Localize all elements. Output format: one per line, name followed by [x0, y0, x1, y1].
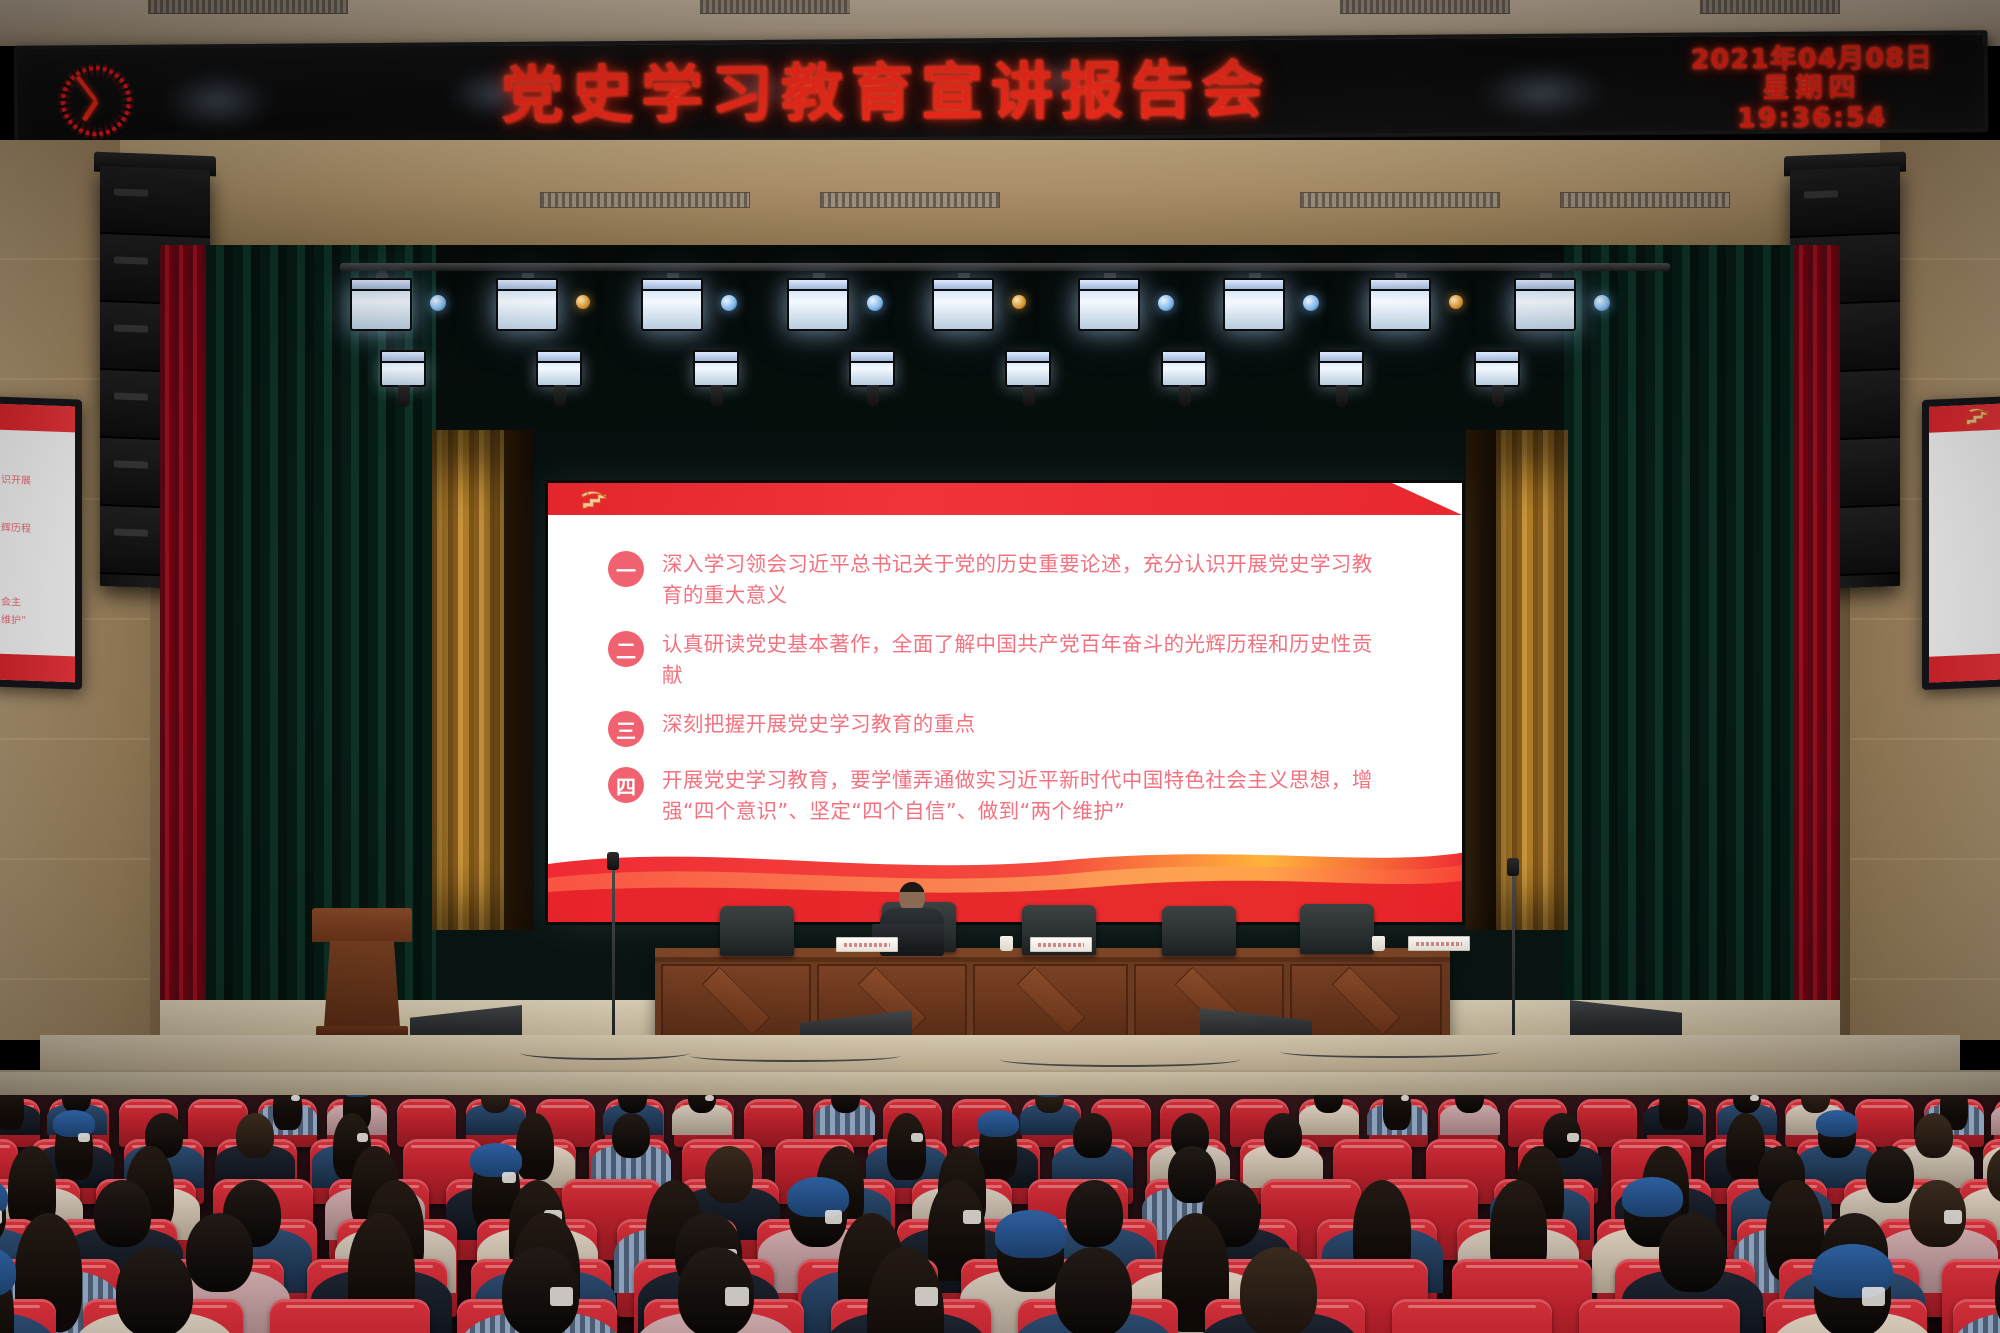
ceiling-vent-icon	[820, 192, 1000, 208]
face-mask-icon	[78, 1133, 90, 1142]
cable	[1280, 1046, 1500, 1058]
table-panel	[973, 964, 1128, 1038]
lighting-truss	[340, 263, 1670, 271]
stage-light-fixture	[1161, 357, 1207, 387]
red-curtain-left	[160, 245, 206, 1035]
stage-light-fixture	[496, 285, 558, 331]
speaking-podium	[312, 908, 412, 1038]
bullet-text: 深入学习领会习近平总书记关于党的历史重要论述，充分认识开展党史学习教育的重大意义	[662, 549, 1382, 611]
par-can-icon	[1594, 295, 1610, 311]
stage-light-fixture	[1223, 285, 1285, 331]
microphone-stand	[612, 862, 615, 1062]
audience-member-head	[1055, 1247, 1132, 1333]
ceiling-vent-icon	[148, 0, 348, 14]
stage-light-fixture	[641, 285, 703, 331]
ceiling-vent-icon	[540, 192, 750, 208]
led-banner-display: 党史学习教育宣讲报告会 2021年04月08日 星期四 19:36:54	[14, 30, 1989, 148]
audience-member-head	[1866, 1146, 1914, 1202]
right-side-led-panel	[1922, 396, 2000, 690]
chair	[1300, 904, 1374, 954]
audience-member-head	[705, 1146, 753, 1202]
audience-member-head	[1264, 1113, 1302, 1158]
light-yoke	[711, 385, 723, 407]
auditorium-scene: 党史学习教育宣讲报告会 2021年04月08日 星期四 19:36:54	[0, 0, 2000, 1333]
face-mask-icon	[1944, 1210, 1962, 1224]
ccp-hammer-sickle-emblem-icon	[574, 485, 616, 515]
slide-header-band	[548, 483, 1462, 515]
water-cup	[1372, 936, 1385, 951]
gold-curtain-right	[1496, 430, 1568, 930]
face-mask-icon	[1567, 1133, 1579, 1142]
slide-bullet-item: 二 认真研读党史基本著作，全面了解中国共产党百年奋斗的光辉历程和历史性贡献	[608, 629, 1432, 691]
bullet-number-badge: 四	[608, 767, 644, 803]
audience-seat	[270, 1299, 430, 1333]
light-yoke	[867, 385, 879, 407]
face-mask-icon	[963, 1210, 981, 1224]
ceiling-vent-icon	[700, 0, 850, 14]
proscenium-header	[120, 140, 1880, 245]
audience-member-cap	[995, 1210, 1066, 1257]
ceiling-vent-icon	[1700, 0, 1840, 14]
audience-member-cap	[977, 1110, 1019, 1137]
light-yoke	[1336, 385, 1348, 407]
audience-seat	[1579, 1299, 1739, 1333]
audience-member-head	[1659, 1095, 1688, 1130]
water-cup	[1000, 936, 1013, 951]
par-can-icon	[430, 295, 446, 311]
stage-light-fixture	[1474, 357, 1520, 387]
stage-light-fixture	[787, 285, 849, 331]
audience-area	[0, 1095, 2000, 1333]
bullet-text: 开展党史学习教育，要学懂弄通做实习近平新时代中国特色社会主义思想，增强“四个意识…	[662, 765, 1382, 827]
banner-time: 19:36:54	[1662, 102, 1962, 134]
slide-bullet-item: 一 深入学习领会习近平总书记关于党的历史重要论述，充分认识开展党史学习教育的重大…	[608, 549, 1432, 611]
slide-surface: 一 深入学习领会习近平总书记关于党的历史重要论述，充分认识开展党史学习教育的重大…	[548, 483, 1462, 922]
side-panel-fragment: 辉历程	[1, 522, 71, 537]
stage-light-fixture	[1005, 357, 1051, 387]
stage-light-fixture	[350, 285, 412, 331]
microphone-icon	[1507, 858, 1519, 876]
face-mask-icon	[291, 1095, 300, 1101]
cable	[690, 1050, 900, 1062]
ceiling-vent-icon	[1340, 0, 1510, 14]
cable	[520, 1046, 690, 1060]
banner-date: 2021年04月08日	[1662, 43, 1962, 74]
stage-light-fixture	[693, 357, 739, 387]
par-can-icon	[576, 295, 590, 309]
bullet-number-badge: 三	[608, 711, 644, 747]
ccp-hammer-sickle-emblem-icon	[1959, 402, 1997, 432]
banner-weekday: 星期四	[1662, 72, 1962, 104]
face-mask-icon	[357, 1133, 369, 1142]
audience-member-head	[186, 1213, 253, 1292]
bullet-text: 认真研读党史基本著作，全面了解中国共产党百年奋斗的光辉历程和历史性贡献	[662, 629, 1382, 691]
table-panel	[661, 964, 811, 1038]
stage-light-fixture	[1078, 285, 1140, 331]
stage-light-fixture	[536, 357, 582, 387]
side-panel-fragment: 维护”	[1, 614, 71, 629]
side-panel-fragment: 识开展	[1, 474, 71, 489]
red-curtain-right	[1794, 245, 1840, 1035]
microphone-icon	[607, 852, 619, 870]
audience-member-head	[1659, 1213, 1726, 1292]
microphone-stand	[1512, 868, 1515, 1062]
audience-member-head	[116, 1247, 193, 1333]
par-can-icon	[867, 295, 883, 311]
audience-member-head	[94, 1180, 152, 1248]
slide-bullet-item: 四 开展党史学习教育，要学懂弄通做实习近平新时代中国特色社会主义思想，增强“四个…	[608, 765, 1432, 827]
face-mask-icon	[725, 1287, 748, 1305]
stage-light-fixture	[849, 357, 895, 387]
audience-member-head	[887, 1113, 925, 1180]
stage-light-fixture	[1369, 285, 1431, 331]
chair	[1162, 906, 1236, 956]
stage-light-fixture	[1318, 357, 1364, 387]
audience-member-cap	[1622, 1177, 1684, 1218]
light-yoke	[1023, 385, 1035, 407]
face-mask-icon	[0, 1210, 2, 1224]
face-mask-icon	[550, 1287, 573, 1305]
light-row-upper	[340, 273, 1670, 329]
face-mask-icon	[911, 1133, 923, 1142]
stage-light-fixture	[380, 357, 426, 387]
audience-member-head	[1240, 1247, 1317, 1333]
bullet-number-badge: 二	[608, 631, 644, 667]
curtain-gap	[1466, 430, 1496, 930]
conference-table	[655, 948, 1450, 1046]
par-can-icon	[1303, 295, 1319, 311]
light-row-lower	[340, 341, 1670, 397]
light-yoke	[554, 385, 566, 407]
audience-member-shoulders	[1991, 1104, 2000, 1136]
par-can-icon	[721, 295, 737, 311]
curtain-gap	[504, 430, 534, 930]
audience-member-head	[0, 1095, 24, 1130]
chair	[720, 906, 794, 956]
gold-curtain-left	[432, 430, 504, 930]
table-panel	[1290, 964, 1442, 1038]
banner-datetime: 2021年04月08日 星期四 19:36:54	[1662, 43, 1963, 134]
stage-light-fixture	[1514, 285, 1576, 331]
light-yoke	[398, 385, 410, 407]
audience-member-head	[612, 1113, 650, 1158]
par-can-icon	[1449, 295, 1463, 309]
audience-member-head	[236, 1113, 274, 1158]
face-mask-icon	[915, 1287, 938, 1305]
par-can-icon	[1158, 295, 1174, 311]
bullet-number-badge: 一	[608, 551, 644, 587]
name-placard	[836, 937, 898, 952]
audience-seat	[1392, 1299, 1552, 1333]
left-side-led-panel: 识开展 辉历程 会主 维护”	[0, 396, 82, 689]
projection-screen: 一 深入学习领会习近平总书记关于党的历史重要论述，充分认识开展党史学习教育的重大…	[545, 480, 1465, 925]
slide-bullet-item: 三 深刻把握开展党史学习教育的重点	[608, 709, 1432, 747]
ceiling-vent-icon	[1300, 192, 1500, 208]
stage-light-fixture	[932, 285, 994, 331]
face-mask-icon	[502, 1172, 517, 1183]
audience-member-head	[1073, 1113, 1111, 1158]
light-yoke	[1492, 385, 1504, 407]
par-can-icon	[1012, 295, 1026, 309]
slide-bullet-list: 一 深入学习领会习近平总书记关于党的历史重要论述，充分认识开展党史学习教育的重大…	[608, 549, 1432, 845]
audience-member-head	[1915, 1113, 1953, 1158]
ceiling-vent-icon	[1560, 192, 1730, 208]
bullet-text: 深刻把握开展党史学习教育的重点	[662, 709, 976, 740]
audience-member-head	[1066, 1180, 1124, 1248]
face-mask-icon	[825, 1210, 843, 1224]
name-placard	[1408, 936, 1470, 951]
audience-member-cap	[1816, 1110, 1858, 1137]
audience-member-head	[516, 1113, 554, 1180]
name-placard	[1030, 937, 1092, 952]
light-yoke	[1179, 385, 1191, 407]
cable	[1000, 1052, 1240, 1067]
face-mask-icon	[1862, 1287, 1885, 1305]
side-panel-fragment: 会主	[1, 596, 71, 611]
